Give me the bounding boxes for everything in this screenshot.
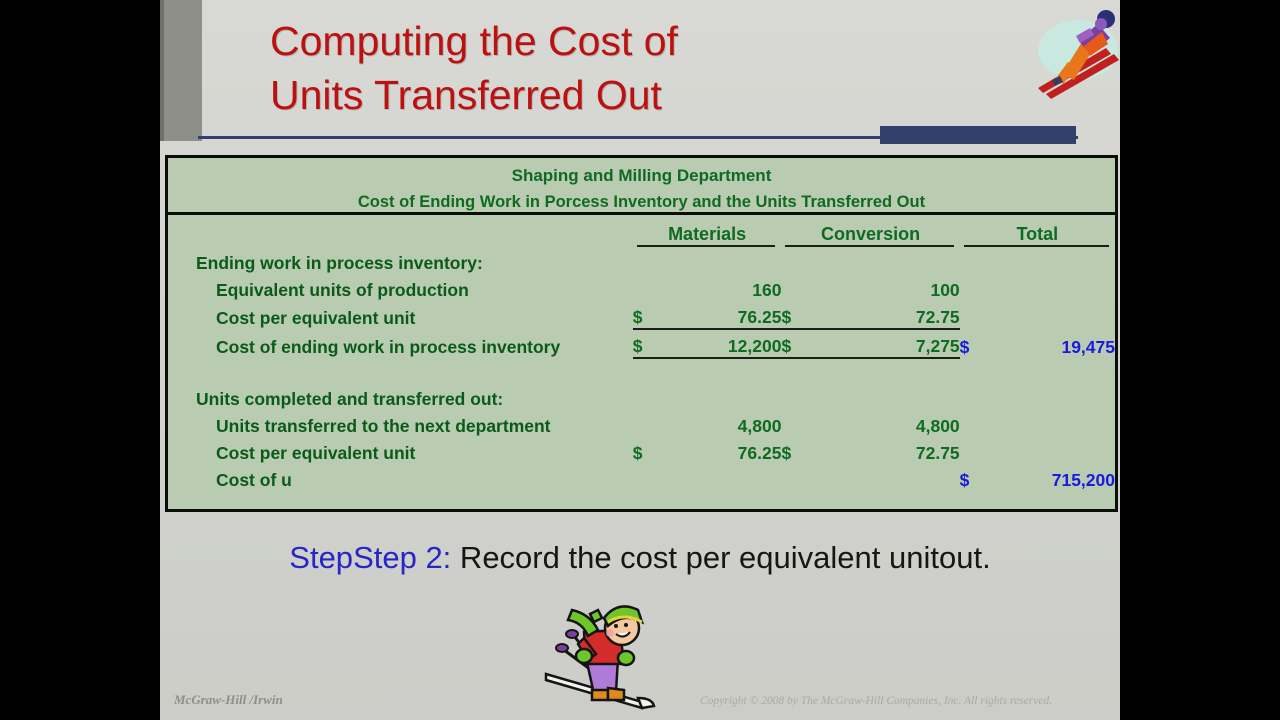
row-label: Cost of ending work in process inventory (168, 329, 633, 358)
row-conversion-symbol: $ (781, 329, 812, 358)
row-materials-symbol (633, 464, 661, 491)
step-label-overlap: StepStep 2: (289, 540, 451, 576)
row-conversion-symbol: $ (781, 301, 812, 329)
table-header: Shaping and Milling Department Cost of E… (168, 158, 1115, 215)
table-row: Units transferred to the next department… (168, 410, 1115, 437)
row-conversion-value: 72.75 (812, 301, 960, 329)
section-title-row: Units completed and transferred out: (168, 383, 1115, 410)
step-caption: StepStep 2: Record the cost per equivale… (160, 540, 1120, 576)
row-materials-value: 4,800 (661, 410, 781, 437)
row-total-symbol: $ (960, 329, 995, 358)
title-line-2: Units Transferred Out (270, 68, 970, 122)
caption-body-overlap: out. (939, 540, 991, 576)
section-2-title: Units completed and transferred out: (168, 383, 633, 410)
row-total-value: 715,200 (995, 464, 1115, 491)
table-header-line-1: Shaping and Milling Department (168, 163, 1115, 189)
cartoon-skier-icon (538, 602, 666, 714)
row-total-value (995, 274, 1115, 301)
row-total-value (995, 301, 1115, 329)
row-total-value (995, 410, 1115, 437)
title-band-edge (160, 0, 164, 141)
title-line-1: Computing the Cost of (270, 14, 970, 68)
title-accent-bar (880, 126, 1076, 144)
row-total-value: 19,475 (995, 329, 1115, 358)
page-title: Computing the Cost of Units Transferred … (270, 14, 970, 122)
row-label: Units transferred to the next department (168, 410, 633, 437)
footer-copyright: Copyright © 2008 by The McGraw-Hill Comp… (700, 695, 1052, 707)
row-materials-symbol: $ (633, 437, 661, 464)
caption-body: Record the cost per equivalent unit (451, 540, 939, 575)
slide-stage: Computing the Cost of Units Transferred … (0, 0, 1280, 720)
row-total-symbol (960, 410, 995, 437)
footer-brand: McGraw-Hill /Irwin (174, 692, 283, 708)
column-header-total: Total (960, 215, 1115, 245)
downhill-skier-icon (1032, 2, 1120, 102)
row-materials-value: 12,200 (661, 329, 781, 358)
row-materials-value: 76.25 (661, 301, 781, 329)
row-materials-value (661, 464, 781, 491)
column-header-materials: Materials (633, 215, 782, 245)
cost-table: Shaping and Milling Department Cost of E… (165, 155, 1118, 512)
table-row: Cost of u $ 715,200 (168, 464, 1115, 491)
table-row: Equivalent units of production 160 100 (168, 274, 1115, 301)
row-materials-symbol (633, 410, 661, 437)
step-label-back: Step 2: (353, 540, 451, 575)
row-conversion-symbol (781, 274, 812, 301)
row-conversion-symbol (781, 464, 812, 491)
row-total-value (995, 437, 1115, 464)
column-header-conversion: Conversion (781, 215, 959, 245)
row-total-symbol (960, 437, 995, 464)
row-conversion-value: 4,800 (812, 410, 960, 437)
row-conversion-symbol: $ (781, 437, 812, 464)
row-materials-symbol: $ (633, 329, 661, 358)
step-label-front: Step (289, 540, 353, 575)
row-label: Equivalent units of production (168, 274, 633, 301)
row-total-symbol: $ (960, 464, 995, 491)
row-conversion-symbol (781, 410, 812, 437)
table-header-line-2: Cost of Ending Work in Porcess Inventory… (168, 189, 1115, 215)
table-row: Cost per equivalent unit $ 76.25 $ 72.75 (168, 437, 1115, 464)
table-spacer (168, 358, 1115, 383)
row-materials-symbol: $ (633, 301, 661, 329)
row-label: Cost per equivalent unit (168, 301, 633, 329)
row-label: Cost per equivalent unit (168, 437, 633, 464)
row-conversion-value: 7,275 (812, 329, 960, 358)
row-conversion-value: 100 (812, 274, 960, 301)
table-row: Cost of ending work in process inventory… (168, 329, 1115, 358)
table-grid: Materials Conversion Total Ending work i… (168, 215, 1115, 491)
table-row: Cost per equivalent unit $ 76.25 $ 72.75 (168, 301, 1115, 329)
row-label: Cost of u (168, 464, 633, 491)
row-materials-value: 160 (661, 274, 781, 301)
section-title-row: Ending work in process inventory: (168, 247, 1115, 274)
row-materials-value: 76.25 (661, 437, 781, 464)
title-band-decoration (160, 0, 202, 141)
row-total-symbol (960, 274, 995, 301)
slide-canvas: Computing the Cost of Units Transferred … (160, 0, 1120, 720)
row-materials-symbol (633, 274, 661, 301)
section-1-title: Ending work in process inventory: (168, 247, 633, 274)
row-conversion-value (812, 464, 960, 491)
table-column-header-row: Materials Conversion Total (168, 215, 1115, 245)
row-total-symbol (960, 301, 995, 329)
row-conversion-value: 72.75 (812, 437, 960, 464)
